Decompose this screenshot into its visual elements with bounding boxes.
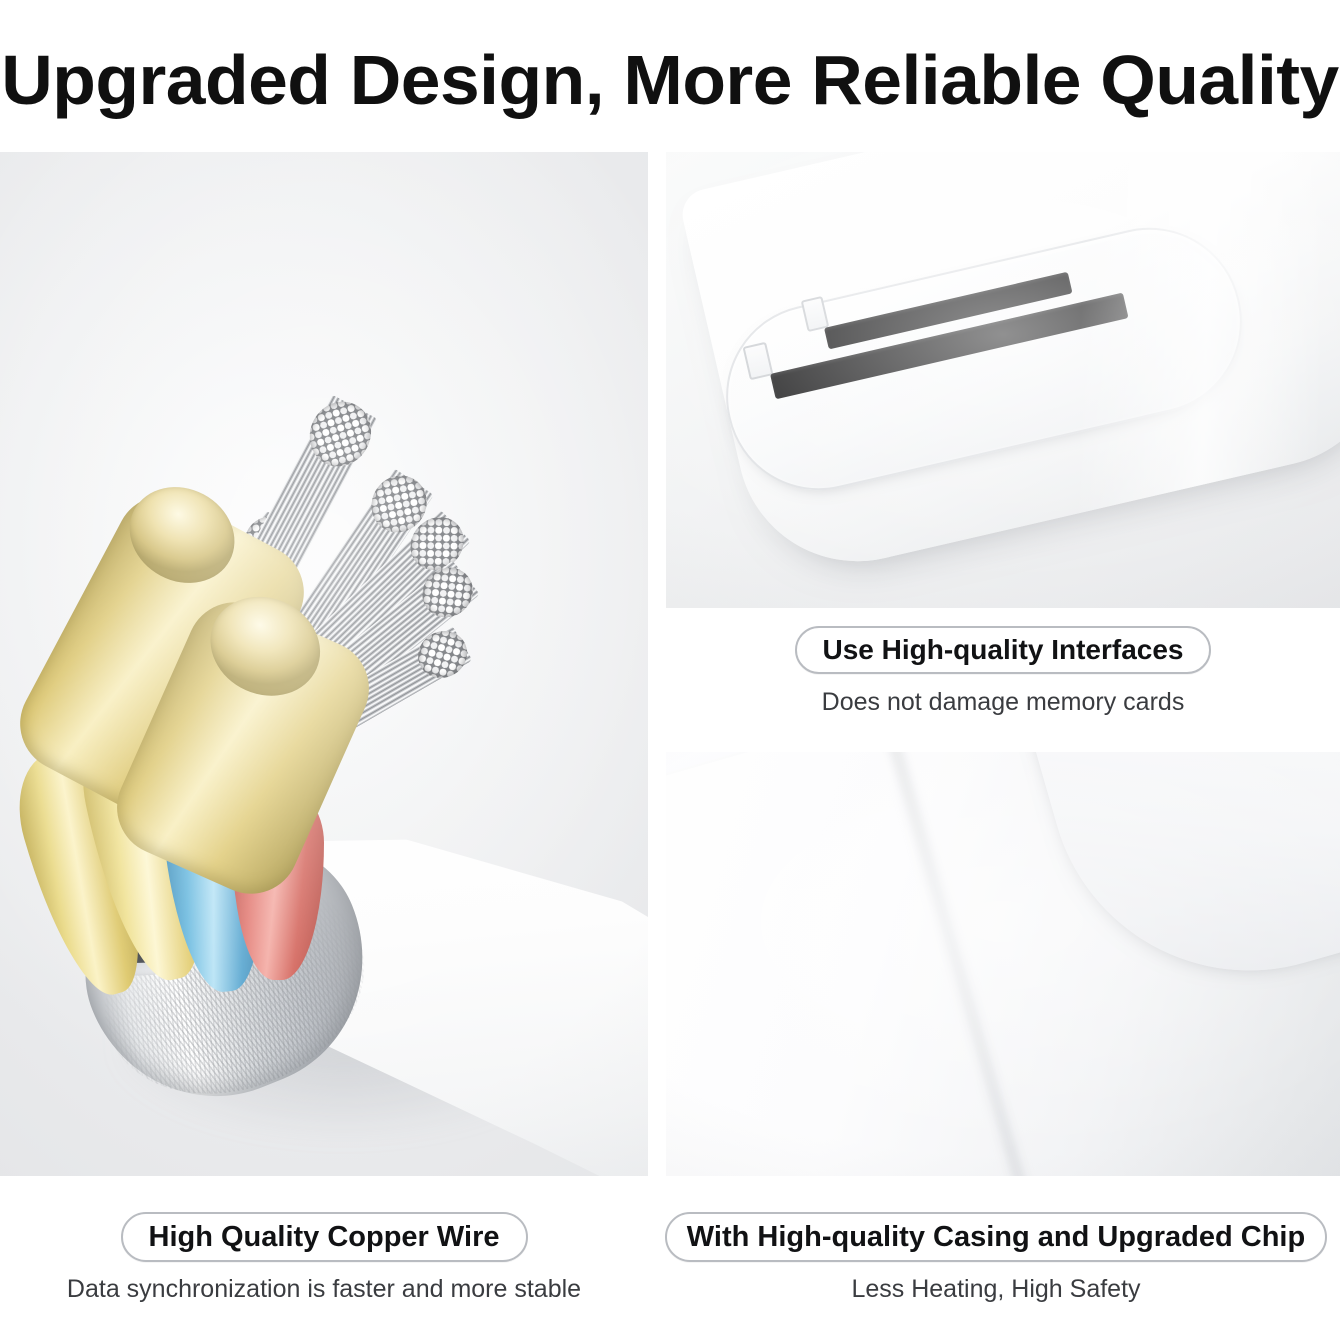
product-feature-image: Upgraded Design, More Reliable Quality <box>0 0 1340 1340</box>
cable-cross-section-photo <box>0 152 648 1176</box>
caption-copper-wire: High Quality Copper Wire Data synchroniz… <box>0 1212 648 1304</box>
caption-subtitle: Less Heating, High Safety <box>652 1275 1340 1304</box>
card-reader-adapter <box>684 162 1340 592</box>
card-reader-interfaces-photo <box>666 152 1340 608</box>
caption-subtitle: Does not damage memory cards <box>666 688 1340 717</box>
casing-closeup-photo <box>666 752 1340 1176</box>
page-title: Upgraded Design, More Reliable Quality <box>0 38 1340 122</box>
caption-casing-chip: With High-quality Casing and Upgraded Ch… <box>652 1212 1340 1304</box>
caption-subtitle: Data synchronization is faster and more … <box>0 1275 648 1304</box>
caption-interfaces: Use High-quality Interfaces Does not dam… <box>666 626 1340 717</box>
caption-title-pill: High Quality Copper Wire <box>121 1212 528 1262</box>
caption-title-pill: With High-quality Casing and Upgraded Ch… <box>665 1212 1327 1262</box>
caption-title-pill: Use High-quality Interfaces <box>795 626 1212 674</box>
